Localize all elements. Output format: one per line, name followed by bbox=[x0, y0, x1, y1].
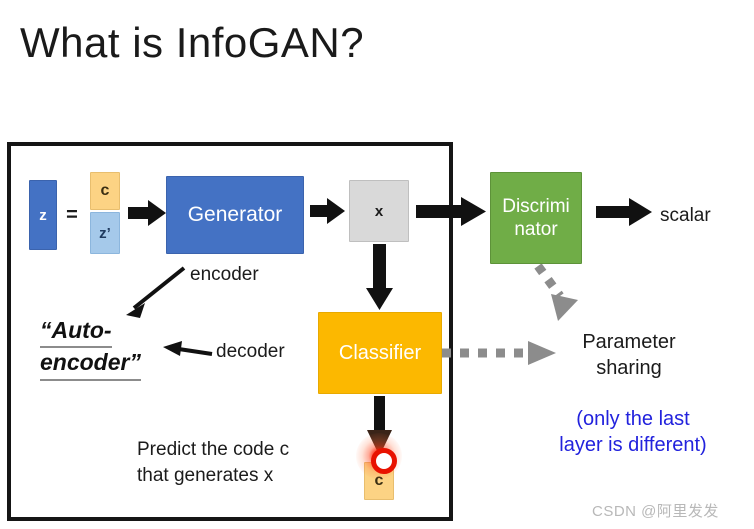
block-z-prime: z’ bbox=[90, 212, 120, 254]
label-encoder: encoder bbox=[190, 264, 259, 286]
label-note-last-layer: (only the last layer is different) bbox=[524, 406, 742, 458]
equals-sign: = bbox=[62, 204, 82, 226]
note-line1: (only the last bbox=[576, 408, 689, 430]
note-line2: layer is different) bbox=[559, 434, 706, 456]
watermark: CSDN @阿里发发 bbox=[592, 500, 719, 521]
label-autoencoder-line2: encoder” bbox=[40, 348, 141, 380]
label-parameter-sharing: Parameter sharing bbox=[568, 330, 690, 381]
parameter-sharing-line2: sharing bbox=[596, 357, 662, 379]
block-c: c bbox=[90, 172, 120, 210]
block-x: x bbox=[349, 180, 409, 242]
block-z: z bbox=[29, 180, 57, 250]
label-decoder: decoder bbox=[216, 341, 285, 363]
discriminator-label-line1: Discrimi bbox=[502, 195, 570, 218]
label-scalar: scalar bbox=[660, 205, 711, 227]
block-discriminator: Discrimi nator bbox=[490, 172, 582, 264]
label-predict-code: Predict the code c that generates x bbox=[137, 437, 289, 489]
arrow-discriminator-to-scalar bbox=[596, 198, 652, 226]
laser-pointer-dot bbox=[356, 433, 402, 479]
predict-line1: Predict the code c bbox=[137, 439, 289, 460]
dotted-arrow-discriminator-to-sharing bbox=[538, 266, 578, 321]
label-autoencoder: “Auto- encoder” bbox=[40, 316, 141, 381]
block-generator: Generator bbox=[166, 176, 304, 254]
dotted-arrow-classifier-to-sharing bbox=[442, 341, 556, 365]
label-autoencoder-line1: “Auto- bbox=[40, 316, 112, 348]
block-classifier: Classifier bbox=[318, 312, 442, 394]
predict-line2: that generates x bbox=[137, 465, 273, 486]
page-title: What is InfoGAN? bbox=[20, 20, 364, 66]
slide-canvas: What is InfoGAN? bbox=[0, 0, 754, 529]
discriminator-label-line2: nator bbox=[514, 218, 557, 241]
parameter-sharing-line1: Parameter bbox=[582, 331, 675, 353]
